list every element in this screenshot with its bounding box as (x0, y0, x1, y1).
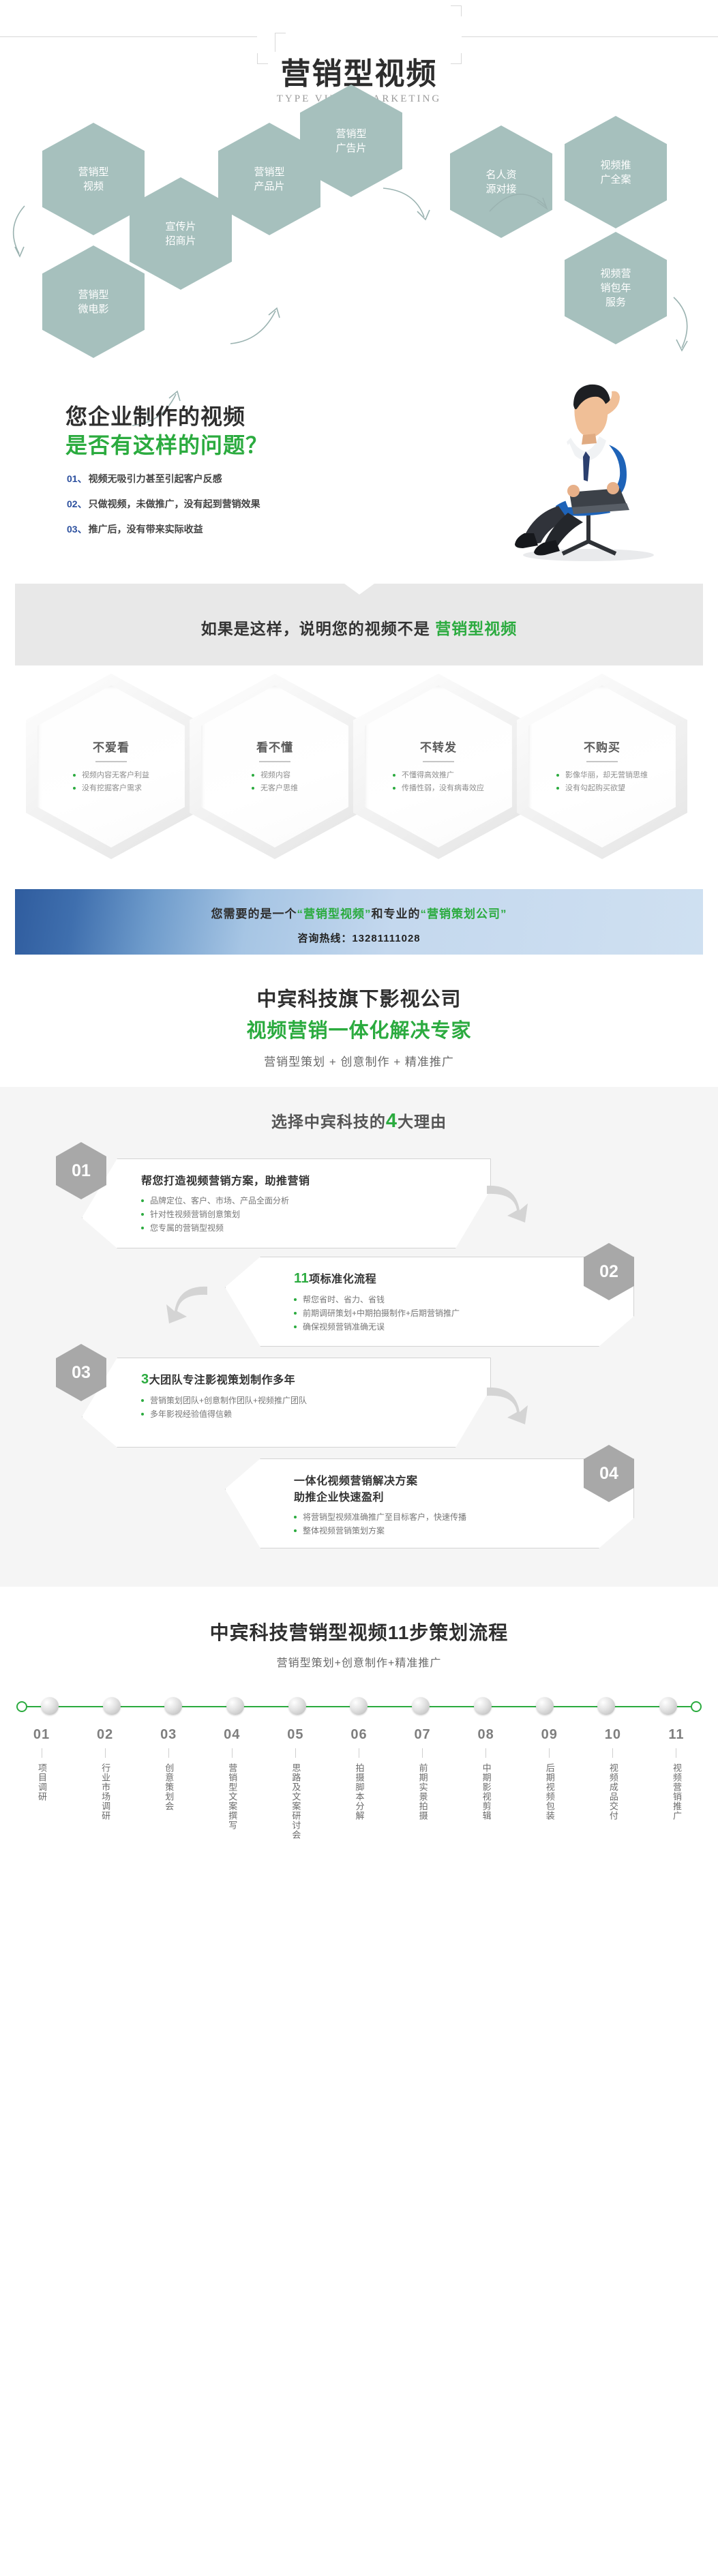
cta-hotline[interactable]: 咨询热线：13281111028 (15, 931, 703, 945)
card-point: 没有挖掘客户需求 (73, 783, 149, 794)
reason-title-text: 一体化视频营销解决方案 (294, 1476, 418, 1487)
problem-hex-card[interactable]: 不购买 影像华丽，却无营销思维 没有勾起购买欲望 (517, 674, 687, 859)
timeline-dots (18, 1697, 700, 1715)
corner-bracket-icon (257, 53, 268, 64)
reasons-title-b: 大理由 (398, 1113, 447, 1130)
reason-card[interactable]: 一体化视频营销解决方案 助推企业快速盈利 将营销型视频准确推广至目标客户，快速传… (225, 1458, 634, 1548)
hex-label-line2: 视频 (83, 181, 104, 192)
step-number: 06 (335, 1727, 383, 1743)
step-divider (485, 1748, 486, 1758)
timeline-dot-icon[interactable] (597, 1697, 615, 1715)
step-item[interactable]: 05 思路及文案研讨会 (271, 1727, 319, 1840)
reason-row-1: 帮您打造视频营销方案，助推营销 品牌定位、客户、市场、产品全面分析 针对性视频营… (0, 1153, 718, 1254)
steps-subheading: 营销型策划+创意制作+精准推广 (0, 1653, 718, 1670)
step-item[interactable]: 08 中期影视剪辑 (462, 1727, 510, 1840)
hex-label-line1: 营销型 (78, 166, 108, 178)
reason-point: 多年影视经验值得信赖 (141, 1407, 490, 1421)
band-text-accent: 营销型视频 (435, 620, 517, 638)
hex-node-8[interactable]: 视频营 销包年 服务 (565, 232, 667, 344)
problem-hex-card[interactable]: 看不懂 视频内容 无客户思维 (190, 674, 360, 859)
hex-label-line1: 营销型 (335, 128, 366, 140)
hex-node-6[interactable]: 视频推 广全案 (565, 116, 667, 228)
hex-label-line1: 营销型 (78, 289, 108, 301)
hex-label-line1: 视频推 (600, 160, 631, 171)
hex-label-line2: 广告片 (335, 143, 366, 154)
reason-point: 将营销型视频准确推广至目标客户，快速传播 (294, 1510, 633, 1524)
company-intro: 中宾科技旗下影视公司 视频营销一体化解决专家 营销型策划 + 创意制作 + 精准… (0, 955, 718, 1087)
hex-label-line1: 宣传片 (165, 221, 196, 233)
step-item[interactable]: 07 前期实景拍摄 (399, 1727, 447, 1840)
problem-hex-card[interactable]: 不转发 不懂得高效推广 传播性弱，没有病毒效应 (353, 674, 524, 859)
problem-text: 只做视频，未做推广，没有起到营销效果 (89, 497, 260, 511)
step-number: 02 (81, 1727, 129, 1743)
step-number: 09 (526, 1727, 573, 1743)
problem-hero-section: 您企业制作的视频 是否有这样的问题？ 01、 视频无吸引力甚至引起客户反感 02… (0, 376, 718, 574)
step-label: 项目调研 (35, 1763, 48, 1801)
card-title: 不爱看 (93, 738, 130, 755)
step-number: 11 (653, 1727, 700, 1743)
band-text-plain: 如果是这样，说明您的视频不是 (201, 620, 435, 638)
card-title: 不转发 (420, 738, 457, 755)
landing-page: 营销型视频 TYPE VIDEO MARKETING 营销型 视频 宣传片 招商… (0, 0, 718, 1863)
masthead-frame: 营销型视频 TYPE VIDEO MARKETING (257, 5, 462, 64)
timeline-dot-icon[interactable] (164, 1697, 182, 1715)
step-divider (105, 1748, 106, 1758)
card-point: 没有勾起购买欲望 (556, 783, 648, 794)
hex-label-line1: 名人资 (485, 169, 516, 181)
hex-node-5[interactable]: 名人资 源对接 (450, 125, 552, 238)
hex-label-line1: 营销型 (254, 166, 284, 178)
card-point: 影像华丽，却无营销思维 (556, 770, 648, 781)
step-divider (612, 1748, 613, 1758)
step-number: 08 (462, 1727, 510, 1743)
flow-arrow-icon (668, 295, 697, 356)
reason-point-list: 品牌定位、客户、市场、产品全面分析 针对性视频营销创意策划 您专属的营销型视频 (141, 1194, 490, 1235)
timeline-dot-icon[interactable] (536, 1697, 554, 1715)
reason-point: 品牌定位、客户、市场、产品全面分析 (141, 1194, 490, 1208)
card-point: 无客户思维 (252, 783, 298, 794)
corner-bracket-icon (275, 33, 286, 52)
step-label: 前期实景拍摄 (416, 1763, 430, 1821)
cta-headline: 您需要的是一个“营销型视频”和专业的“营销策划公司” (15, 889, 703, 921)
steps-heading-b: 步策划流程 (409, 1622, 508, 1643)
cta-text-b: 和专业的 (372, 908, 421, 920)
problem-heading-dark: 您企业制作的视频 (65, 400, 245, 431)
reason-point-list: 营销策划团队+创意制作团队+视频推广团队 多年影视经验值得信赖 (141, 1394, 490, 1421)
title-divider (259, 761, 290, 762)
title-divider (95, 761, 127, 762)
reasons-title-a: 选择中宾科技的 (271, 1113, 386, 1130)
card-point: 视频内容 (252, 770, 298, 781)
step-item[interactable]: 02 行业市场调研 (81, 1727, 129, 1840)
hex-label-line2: 销包年 (600, 282, 631, 294)
corner-bracket-icon (451, 5, 462, 16)
problem-heading-green: 是否有这样的问题？ (65, 428, 268, 460)
step-number: 04 (208, 1727, 256, 1743)
reason-point-list: 将营销型视频准确推广至目标客户，快速传播 整体视频营销策划方案 (294, 1510, 633, 1538)
reason-card[interactable]: 11项标准化流程 帮您省时、省力、省钱 前期调研策划+中期拍摄制作+后期营销推广… (225, 1257, 634, 1347)
title-divider (586, 761, 618, 762)
step-divider (168, 1748, 169, 1758)
cta-text-a: 您需要的是一个 (211, 908, 297, 920)
problem-index: 03、 (67, 522, 87, 536)
step-label: 视频营销推广 (670, 1763, 683, 1821)
card-point-list: 视频内容 无客户思维 (252, 770, 298, 796)
step-label: 行业市场调研 (98, 1763, 112, 1821)
card-point-list: 影像华丽，却无营销思维 没有勾起购买欲望 (556, 770, 648, 796)
reason-point: 整体视频营销策划方案 (294, 1524, 633, 1538)
reason-title-text: 项标准化流程 (309, 1274, 376, 1285)
card-point-list: 视频内容无客户利益 没有挖掘客户需求 (73, 770, 149, 796)
reason-point: 确保视频营销准确无误 (294, 1320, 633, 1334)
masthead: 营销型视频 TYPE VIDEO MARKETING (0, 0, 718, 90)
step-number: 07 (399, 1727, 447, 1743)
flow-arrow-icon (382, 185, 434, 224)
timeline-track (18, 1697, 700, 1716)
step-item[interactable]: 04 营销型文案撰写 (208, 1727, 256, 1840)
problem-index: 01、 (67, 472, 87, 485)
curved-arrow-icon (161, 1284, 209, 1326)
step-divider (549, 1748, 550, 1758)
grey-statement-band: 如果是这样，说明您的视频不是 营销型视频 (0, 584, 718, 665)
problem-list-item: 01、 视频无吸引力甚至引起客户反感 (67, 472, 260, 485)
flow-arrow-icon (488, 184, 550, 217)
timeline-dot-icon[interactable] (350, 1697, 368, 1715)
businessman-illustration (486, 372, 684, 563)
cta-quote-1: “营销型视频” (297, 908, 372, 920)
step-divider (232, 1748, 233, 1758)
reason-point: 您专属的营销型视频 (141, 1221, 490, 1235)
reason-point: 营销策划团队+创意制作团队+视频推广团队 (141, 1394, 490, 1407)
timeline-dot-icon[interactable] (659, 1697, 677, 1715)
step-label: 中期影视剪辑 (479, 1763, 493, 1821)
step-label: 后期视频包装 (543, 1763, 556, 1821)
steps-heading-a: 中宾科技营销型视频 (210, 1622, 388, 1643)
hex-node-7[interactable]: 营销型 微电影 (42, 245, 145, 358)
timeline-dot-icon[interactable] (103, 1697, 121, 1715)
company-heading-3: 营销型策划 + 创意制作 + 精准推广 (0, 1052, 718, 1069)
reasons-title-number: 4 (386, 1110, 398, 1132)
curved-arrow-icon (485, 1385, 533, 1427)
reason-card-title: 11项标准化流程 (294, 1270, 633, 1287)
steps-heading: 中宾科技营销型视频11步策划流程 (0, 1618, 718, 1645)
flow-arrow-icon (229, 307, 284, 349)
card-point: 不懂得高效推广 (393, 770, 484, 781)
problem-text: 推广后，没有带来实际收益 (89, 522, 203, 536)
reason-card[interactable]: 帮您打造视频营销方案，助推营销 品牌定位、客户、市场、产品全面分析 针对性视频营… (82, 1158, 491, 1248)
step-label: 营销型文案撰写 (225, 1763, 239, 1830)
service-hex-flow: 营销型 视频 宣传片 招商片 营销型 产品片 营销型 广告片 名人资 源对接 视… (0, 90, 718, 376)
problem-list-item: 03、 推广后，没有带来实际收益 (67, 522, 260, 536)
reason-title-number: 11 (294, 1271, 309, 1286)
title-divider (423, 761, 454, 762)
step-item[interactable]: 09 后期视频包装 (526, 1727, 573, 1840)
step-divider (42, 1748, 42, 1758)
step-divider (422, 1748, 423, 1758)
timeline-dot-icon[interactable] (474, 1697, 492, 1715)
problem-list-item: 02、 只做视频，未做推广，没有起到营销效果 (67, 497, 260, 511)
company-heading-1: 中宾科技旗下影视公司 (0, 983, 718, 1012)
problem-hex-card[interactable]: 不爱看 视频内容无客户利益 没有挖掘客户需求 (26, 674, 196, 859)
reason-point: 帮您省时、省力、省钱 (294, 1293, 633, 1306)
timeline-dot-icon[interactable] (288, 1697, 306, 1715)
problem-text: 视频无吸引力甚至引起客户反感 (89, 472, 222, 485)
reason-row-2: 11项标准化流程 帮您省时、省力、省钱 前期调研策划+中期拍摄制作+后期营销推广… (0, 1254, 718, 1355)
problem-hex-grid: 不爱看 视频内容无客户利益 没有挖掘客户需求 看不懂 视频内容 无客户思维 (0, 665, 718, 863)
step-item[interactable]: 11 视频营销推广 (653, 1727, 700, 1840)
hex-label-line2: 招商片 (165, 235, 196, 247)
steps-grid: 01 项目调研 02 行业市场调研 03 创意策划会 04 营销型文案撰写 05 (0, 1716, 718, 1840)
reason-card-title: 帮您打造视频营销方案，助推营销 (141, 1171, 490, 1188)
step-divider (359, 1748, 359, 1758)
reason-point: 针对性视频营销创意策划 (141, 1208, 490, 1221)
reason-point-list: 帮您省时、省力、省钱 前期调研策划+中期拍摄制作+后期营销推广 确保视频营销准确… (294, 1293, 633, 1334)
step-label: 创意策划会 (162, 1763, 175, 1811)
reason-title-text: 大团队专注影视策划制作多年 (149, 1375, 296, 1386)
company-heading-2: 视频营销一体化解决专家 (0, 1015, 718, 1043)
band-notch-icon (344, 584, 374, 595)
step-number: 05 (271, 1727, 319, 1743)
reason-card[interactable]: 3大团队专注影视策划制作多年 营销策划团队+创意制作团队+视频推广团队 多年影视… (82, 1358, 491, 1448)
reason-row-3: 3大团队专注影视策划制作多年 营销策划团队+创意制作团队+视频推广团队 多年影视… (0, 1355, 718, 1456)
hex-label-line1: 视频营 (600, 268, 631, 280)
flow-arrow-icon (4, 203, 31, 265)
cta-banner: 您需要的是一个“营销型视频”和专业的“营销策划公司” 咨询热线：13281111… (15, 889, 703, 955)
corner-bracket-icon (451, 53, 462, 64)
steps-heading-number: 11 (388, 1622, 410, 1643)
reason-point: 前期调研策划+中期拍摄制作+后期营销推广 (294, 1306, 633, 1320)
reason-title-number: 3 (141, 1372, 149, 1387)
reason-card-title: 3大团队专注影视策划制作多年 (141, 1371, 490, 1388)
step-item[interactable]: 01 项目调研 (18, 1727, 65, 1840)
reasons-title: 选择中宾科技的4大理由 (0, 1109, 718, 1133)
card-point: 传播性弱，没有病毒效应 (393, 783, 484, 794)
timeline-dot-icon[interactable] (412, 1697, 430, 1715)
cta-quote-2: “营销策划公司” (421, 908, 507, 920)
hex-label-line2: 广全案 (600, 174, 631, 185)
card-point-list: 不懂得高效推广 传播性弱，没有病毒效应 (393, 770, 484, 796)
timeline-dot-icon[interactable] (226, 1697, 244, 1715)
reason-card-title: 一体化视频营销解决方案 助推企业快速盈利 (294, 1471, 633, 1504)
reason-title-text-2: 助推企业快速盈利 (294, 1492, 384, 1503)
step-label: 拍摄脚本分解 (352, 1763, 365, 1821)
curved-arrow-icon (485, 1183, 533, 1225)
step-item[interactable]: 10 视频成品交付 (589, 1727, 637, 1840)
hex-label-line3: 服务 (605, 297, 626, 308)
card-title: 不购买 (584, 738, 620, 755)
step-divider (295, 1748, 296, 1758)
hex-label-line2: 产品片 (254, 181, 284, 192)
hex-node-1[interactable]: 营销型 视频 (42, 123, 145, 235)
problem-list: 01、 视频无吸引力甚至引起客户反感 02、 只做视频，未做推广，没有起到营销效… (67, 472, 260, 548)
reasons-section: 选择中宾科技的4大理由 帮您打造视频营销方案，助推营销 品牌定位、客户、市场、产… (0, 1087, 718, 1587)
timeline-dot-icon[interactable] (41, 1697, 59, 1715)
reason-row-4: 一体化视频营销解决方案 助推企业快速盈利 将营销型视频准确推广至目标客户，快速传… (0, 1456, 718, 1557)
card-point: 视频内容无客户利益 (73, 770, 149, 781)
steps-section: 中宾科技营销型视频11步策划流程 营销型策划+创意制作+精准推广 (0, 1587, 718, 1863)
band-text: 如果是这样，说明您的视频不是 营销型视频 (0, 616, 718, 639)
step-item[interactable]: 06 拍摄脚本分解 (335, 1727, 383, 1840)
step-number: 01 (18, 1727, 65, 1743)
step-label: 视频成品交付 (606, 1763, 620, 1821)
step-number: 03 (145, 1727, 192, 1743)
step-item[interactable]: 03 创意策划会 (145, 1727, 192, 1840)
problem-index: 02、 (67, 497, 87, 511)
step-label: 思路及文案研讨会 (288, 1763, 302, 1840)
step-number: 10 (589, 1727, 637, 1743)
card-title: 看不懂 (256, 738, 293, 755)
page-title: 营销型视频 (257, 52, 462, 93)
hex-node-2[interactable]: 宣传片 招商片 (130, 177, 232, 290)
hex-label-line2: 微电影 (78, 303, 108, 315)
step-divider (676, 1748, 676, 1758)
